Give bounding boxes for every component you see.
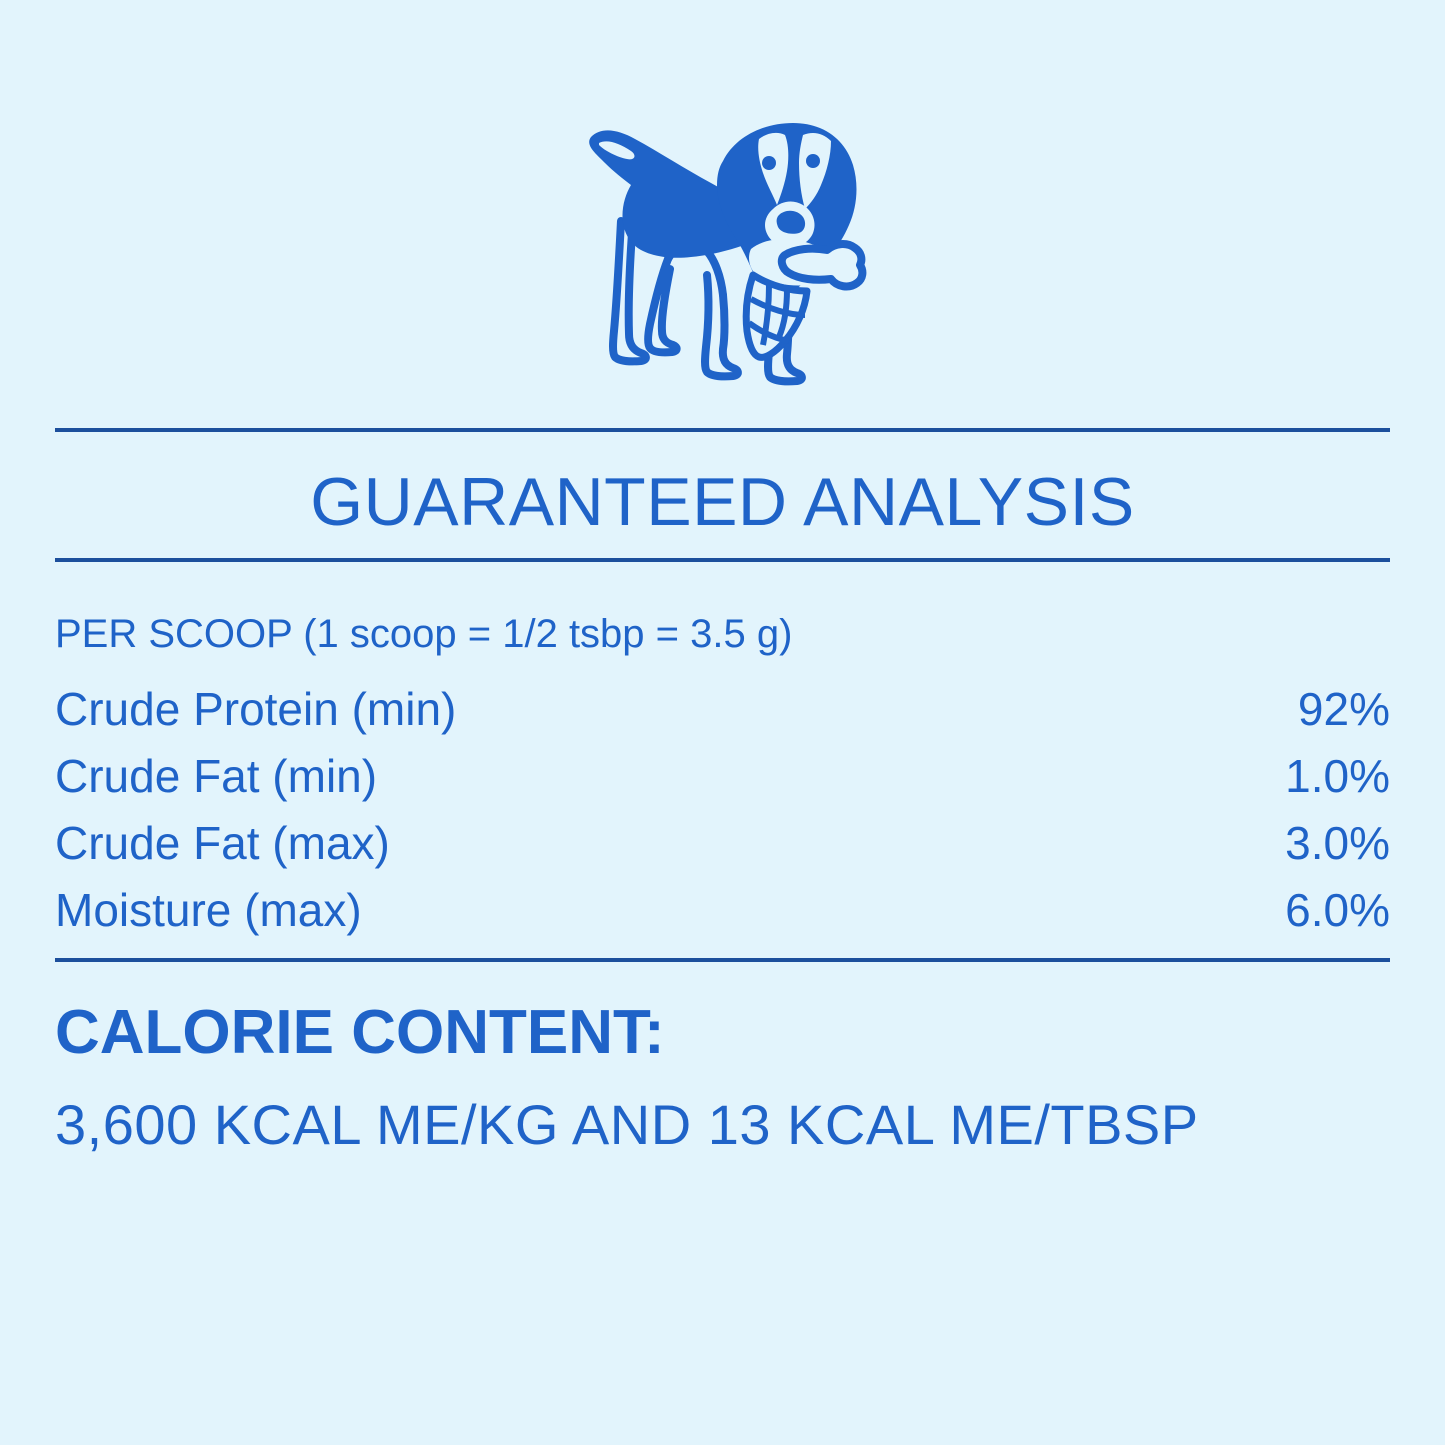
analysis-row-label: Crude Fat (min) (55, 747, 377, 805)
calorie-content-heading: CALORIE CONTENT: (55, 995, 665, 1071)
analysis-row-value: 3.0% (1285, 814, 1390, 872)
dotted-leader (447, 791, 1283, 792)
divider-top (55, 428, 1390, 432)
dog-eye-right-icon (806, 154, 820, 168)
serving-size-note: PER SCOOP (1 scoop = 1/2 tsbp = 3.5 g) (55, 608, 792, 660)
analysis-row-value: 92% (1298, 680, 1390, 738)
dotted-leader (482, 724, 1296, 725)
calorie-content-value: 3,600 KCAL ME/KG AND 13 KCAL ME/TBSP (55, 1090, 1199, 1160)
analysis-row: Crude Fat (min) 1.0% (55, 747, 1390, 814)
guaranteed-analysis-panel: GUARANTEED ANALYSIS PER SCOOP (1 scoop =… (0, 0, 1445, 1445)
analysis-row-value: 6.0% (1285, 881, 1390, 939)
analysis-row: Crude Protein (min) 92% (55, 680, 1390, 747)
page-title: GUARANTEED ANALYSIS (0, 455, 1445, 549)
analysis-row-label: Crude Protein (min) (55, 680, 456, 738)
analysis-row-label: Crude Fat (max) (55, 814, 390, 872)
dotted-leader (362, 925, 1283, 926)
analysis-row-label: Moisture (max) (55, 881, 362, 939)
dog-eye-left-icon (762, 156, 776, 170)
analysis-row: Crude Fat (max) 3.0% (55, 814, 1390, 881)
analysis-row-value: 1.0% (1285, 747, 1390, 805)
divider-above-calories (55, 958, 1390, 962)
dog-with-bone-icon (573, 109, 873, 391)
divider-under-title (55, 558, 1390, 562)
guaranteed-analysis-list: Crude Protein (min) 92% Crude Fat (min) … (55, 680, 1390, 948)
brand-logo (0, 100, 1445, 400)
dotted-leader (390, 858, 1283, 859)
analysis-row: Moisture (max) 6.0% (55, 881, 1390, 948)
